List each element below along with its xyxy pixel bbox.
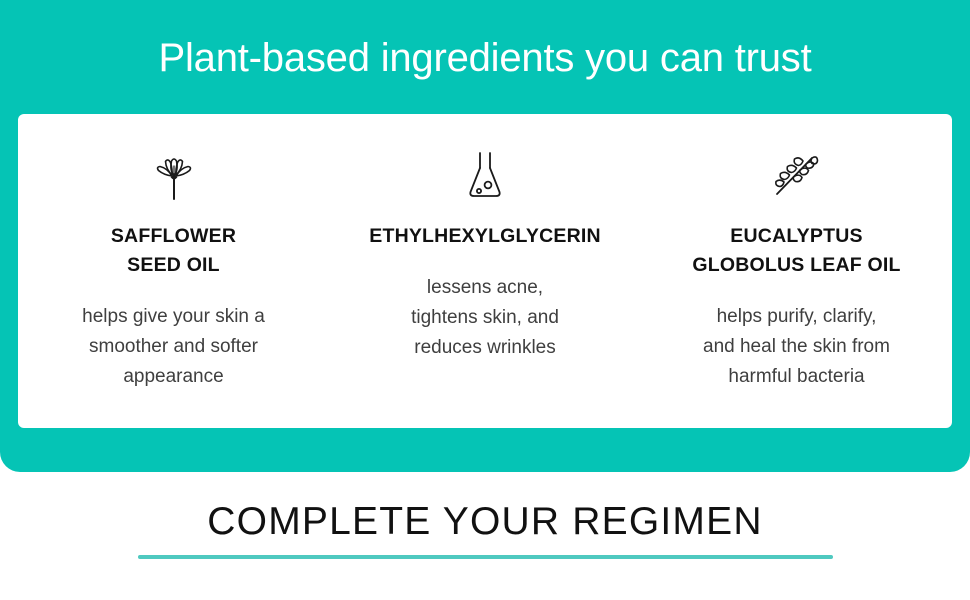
ingredient-desc-line1: helps give your skin a — [82, 302, 265, 332]
ingredient-title-line1: SAFFLOWER — [111, 225, 236, 247]
ingredient-description-safflower: helps give your skin a smoother and soft… — [82, 302, 265, 392]
ingredient-desc-line3: reduces wrinkles — [411, 333, 559, 363]
ingredient-title-line1: ETHYLHEXYLGLYCERIN — [369, 225, 601, 247]
ingredient-column-safflower: SAFFLOWER SEED OIL helps give your skin … — [18, 114, 329, 428]
ingredient-title-safflower: SAFFLOWER SEED OIL — [111, 222, 236, 280]
regimen-divider — [138, 555, 833, 559]
ingredient-description-ethylhexylglycerin: lessens acne, tightens skin, and reduces… — [411, 273, 559, 363]
ingredient-desc-line1: helps purify, clarify, — [703, 302, 890, 332]
ingredient-desc-line1: lessens acne, — [411, 273, 559, 303]
ingredient-title-line2: GLOBOLUS LEAF OIL — [692, 254, 900, 276]
erlenmeyer-flask-icon — [467, 144, 503, 206]
regimen-section: COMPLETE YOUR REGIMEN — [0, 472, 970, 600]
ingredient-title-line1: EUCALYPTUS — [730, 225, 862, 247]
ingredient-desc-line3: appearance — [82, 362, 265, 392]
ingredient-title-line2: SEED OIL — [127, 254, 220, 276]
ingredient-column-ethylhexylglycerin: ETHYLHEXYLGLYCERIN lessens acne, tighten… — [330, 114, 641, 428]
ingredient-column-eucalyptus: EUCALYPTUS GLOBOLUS LEAF OIL helps purif… — [641, 114, 952, 428]
ingredient-desc-line2: and heal the skin from — [703, 332, 890, 362]
regimen-heading: COMPLETE YOUR REGIMEN — [0, 496, 970, 548]
safflower-flower-icon — [151, 144, 197, 206]
ingredient-desc-line2: smoother and softer — [82, 332, 265, 362]
ingredient-desc-line2: tightens skin, and — [411, 303, 559, 333]
page-title: Plant-based ingredients you can trust — [0, 30, 970, 86]
ingredient-title-eucalyptus: EUCALYPTUS GLOBOLUS LEAF OIL — [692, 222, 900, 280]
ingredient-desc-line3: harmful bacteria — [703, 362, 890, 392]
eucalyptus-branch-icon — [772, 144, 822, 206]
ingredient-title-ethylhexylglycerin: ETHYLHEXYLGLYCERIN — [369, 222, 601, 251]
ingredients-card: SAFFLOWER SEED OIL helps give your skin … — [18, 114, 952, 428]
ingredient-description-eucalyptus: helps purify, clarify, and heal the skin… — [703, 302, 890, 392]
promo-banner: Plant-based ingredients you can trust — [0, 0, 970, 600]
